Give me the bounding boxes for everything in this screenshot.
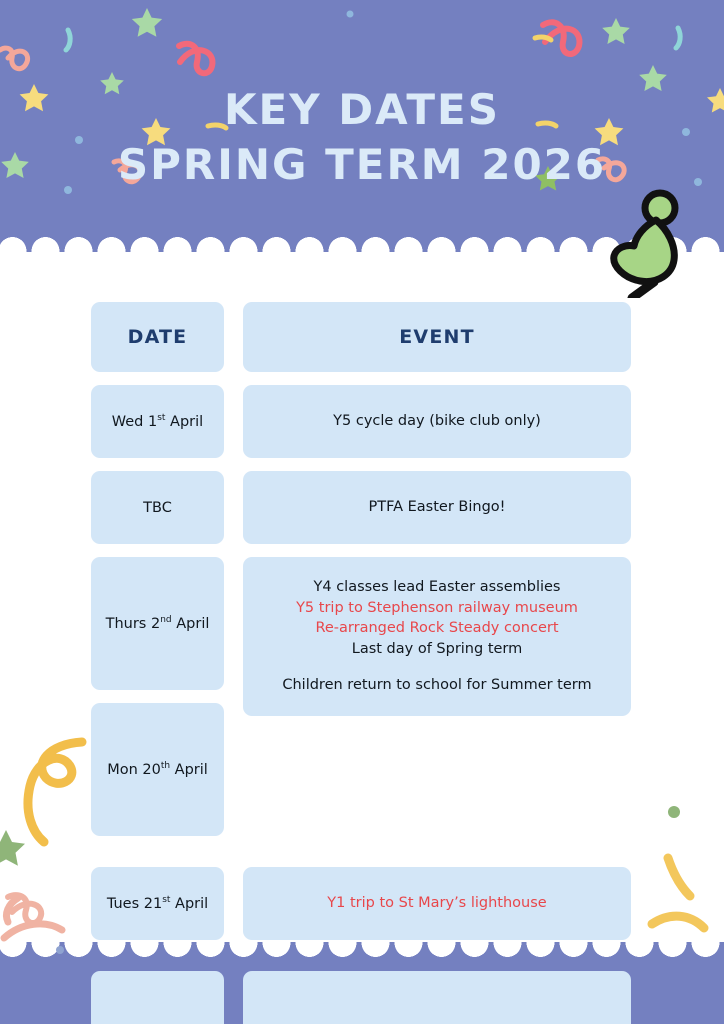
- event-cell: PTFA Easter Bingo!: [243, 471, 631, 544]
- column-header-event: EVENT: [243, 302, 631, 372]
- date-suffix: April: [170, 762, 208, 778]
- merged-date-column: Thurs 2nd April Mon 20th April: [91, 557, 224, 836]
- date-cell: Mon 20th April: [91, 703, 224, 836]
- event-cell-empty: [243, 971, 631, 1024]
- date-prefix: TBC: [143, 500, 172, 516]
- date-ordinal-suffix: th: [161, 761, 170, 771]
- row-spacer: [0, 953, 724, 971]
- event-line: Last day of Spring term: [352, 639, 523, 660]
- table-row[interactable]: TBC PTFA Easter Bingo!: [0, 471, 724, 544]
- event-line: Children return to school for Summer ter…: [282, 675, 591, 696]
- table-row-empty[interactable]: [0, 971, 724, 1024]
- event-line: PTFA Easter Bingo!: [369, 497, 506, 518]
- date-suffix: April: [165, 414, 203, 430]
- row-spacer: [0, 836, 724, 867]
- event-line: Y5 cycle day (bike club only): [333, 411, 541, 432]
- date-suffix: April: [170, 896, 208, 912]
- date-number: 20: [142, 762, 160, 778]
- date-ordinal-suffix: nd: [160, 615, 171, 625]
- merged-event-cell: Y4 classes lead Easter assemblies Y5 tri…: [243, 557, 631, 716]
- date-prefix: Wed: [112, 414, 148, 430]
- date-cell-empty: [91, 971, 224, 1024]
- date-prefix: Mon: [107, 762, 142, 778]
- event-line-highlighted: Y5 trip to Stephenson railway museum: [296, 598, 578, 619]
- table-merged-row-group[interactable]: Thurs 2nd April Mon 20th April Y4 classe…: [0, 557, 724, 836]
- event-line: Y4 classes lead Easter assemblies: [314, 577, 561, 598]
- table-header-row: DATE EVENT: [0, 302, 724, 372]
- event-line-highlighted: Y1 trip to St Mary’s lighthouse: [327, 893, 546, 914]
- date-number: 1: [148, 414, 157, 430]
- date-prefix: Thurs: [106, 616, 151, 632]
- date-cell: Thurs 2nd April: [91, 557, 224, 690]
- date-suffix: April: [172, 616, 210, 632]
- date-cell: Wed 1st April: [91, 385, 224, 458]
- column-header-date: DATE: [91, 302, 224, 372]
- date-number: 21: [144, 896, 162, 912]
- date-prefix: Tues: [107, 896, 144, 912]
- event-cell: Y1 trip to St Mary’s lighthouse: [243, 867, 631, 940]
- key-dates-table: DATE EVENT Wed 1st April Y5 cycle day (b…: [0, 302, 724, 1024]
- table-row[interactable]: Wed 1st April Y5 cycle day (bike club on…: [0, 385, 724, 458]
- pushpin-icon: [596, 186, 696, 298]
- event-line-highlighted: Re-arranged Rock Steady concert: [315, 618, 558, 639]
- date-cell: Tues 21st April: [91, 867, 224, 940]
- poster-canvas: KEY DATES SPRING TERM 2026 DATE EVENT We…: [0, 0, 724, 1024]
- table-row[interactable]: Tues 21st April Y1 trip to St Mary’s lig…: [0, 867, 724, 940]
- date-cell: TBC: [91, 471, 224, 544]
- event-cell: Y5 cycle day (bike club only): [243, 385, 631, 458]
- date-number: 2: [151, 616, 160, 632]
